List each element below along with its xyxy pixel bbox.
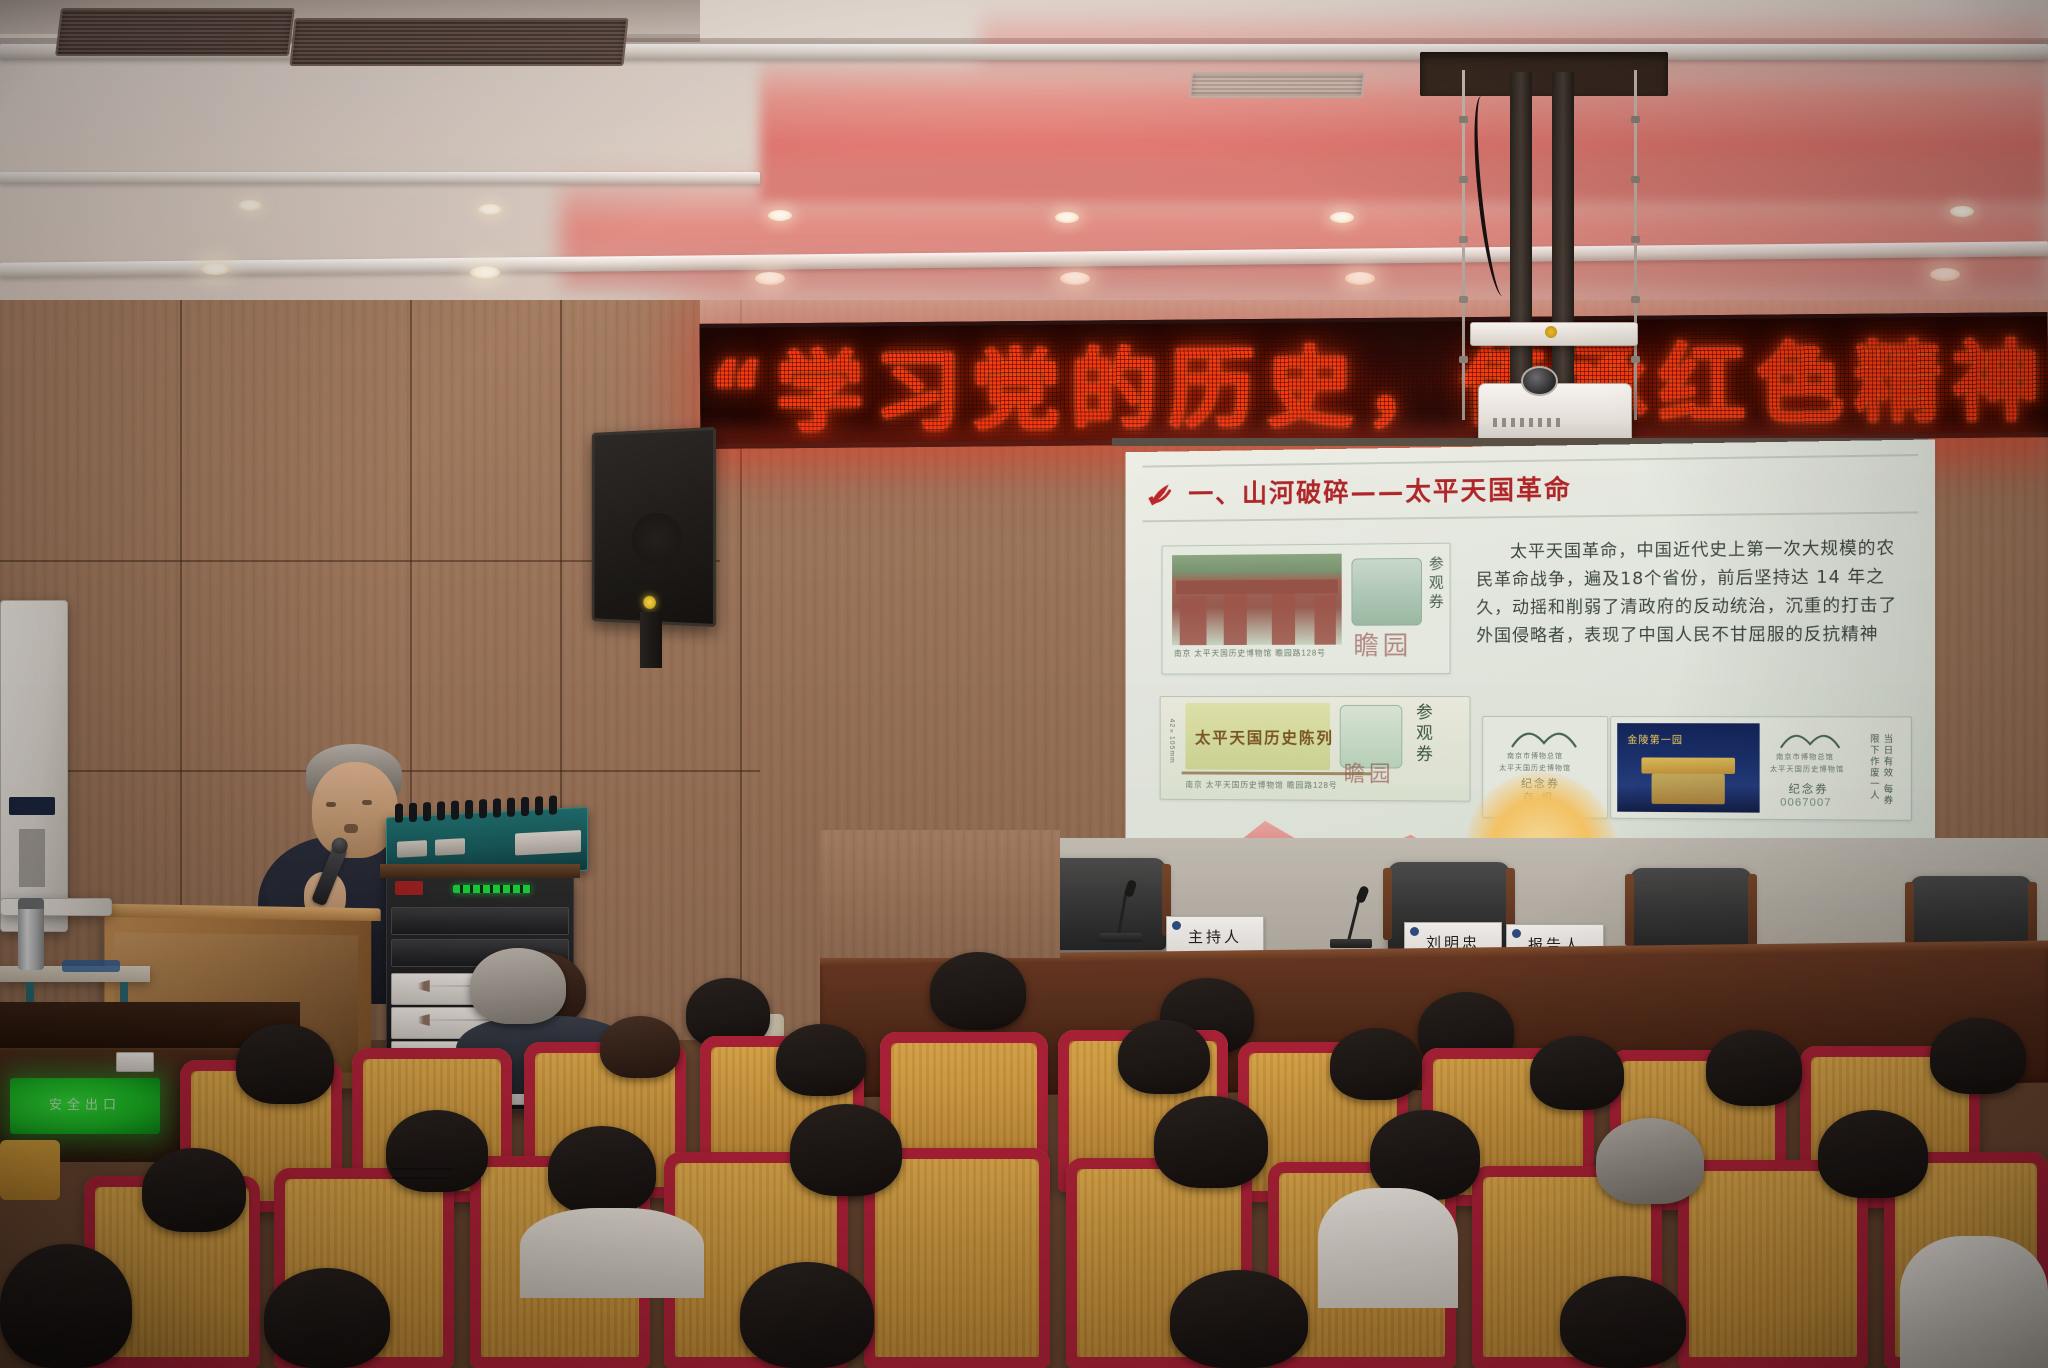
speaker-mouth xyxy=(344,824,358,833)
lift-wire-right xyxy=(1634,70,1637,420)
museum-logo-icon xyxy=(1509,727,1579,749)
slide-body-text: 太平天国革命，中国近代史上第一次大规模的农民革命战争，遍及18个省份，前后坚持达… xyxy=(1476,534,1899,650)
audience-head xyxy=(740,1262,874,1368)
downlight xyxy=(1930,268,1960,281)
ticket-serial: 0067007 xyxy=(1780,797,1831,810)
party-emblem-icon xyxy=(1146,478,1175,508)
audience-head xyxy=(1118,1020,1210,1094)
museum-subtitle: 太平天国历史博物馆 xyxy=(1770,764,1844,774)
downlight xyxy=(200,262,230,275)
speaker-driver xyxy=(632,513,683,566)
slide-title-text: 一、山河破碎——太平天国革命 xyxy=(1188,469,1572,511)
projector-lift-ceiling-hole xyxy=(1420,52,1668,96)
audience-glasses xyxy=(392,1168,454,1179)
thermos-flask xyxy=(18,898,44,970)
dispenser-tap-area xyxy=(19,829,45,887)
nameplate-logo-icon xyxy=(1512,929,1521,938)
ticket-size-note: 42×105mm xyxy=(1168,719,1175,764)
projector-lift-column xyxy=(1510,72,1532,417)
ticket-seal: 瞻园 xyxy=(1353,626,1412,663)
ceiling-red-glow-lower xyxy=(560,168,2048,288)
speaker-bracket xyxy=(640,612,662,668)
photo-caption: 金陵第一园 xyxy=(1627,731,1683,746)
stage-microphone xyxy=(1100,880,1160,942)
foreground-seat-edge xyxy=(0,1140,60,1200)
mixer-right-panel xyxy=(515,830,581,855)
rack-brand-badge xyxy=(395,881,423,895)
projector-lens xyxy=(1521,366,1558,396)
audience-head xyxy=(1370,1110,1480,1200)
audience-head-front xyxy=(470,948,566,1024)
ceiling-strip-3 xyxy=(0,172,760,184)
audience-head xyxy=(600,1016,680,1078)
audience-head xyxy=(264,1268,390,1368)
ticket-caption: 南京 太平天国历史博物馆 瞻园路128号 xyxy=(1174,648,1326,659)
slide-rule-under-title xyxy=(1143,511,1919,522)
audience-head xyxy=(0,1244,132,1368)
stage-microphone xyxy=(1330,886,1390,948)
downlight xyxy=(1060,272,1090,285)
ticket-headline: 太平天国历史陈列 xyxy=(1195,724,1334,748)
ticket-commemorative-right: 金陵第一园 南京市博物总馆 太平天国历史博物馆 纪念券 0067007 当日有效… xyxy=(1610,716,1912,821)
dispenser-shelf xyxy=(0,898,112,916)
ceiling-vent-2 xyxy=(289,18,628,66)
audience-shoulders xyxy=(520,1208,704,1298)
ticket-night-photo: 金陵第一园 xyxy=(1617,723,1759,813)
ticket-vignette xyxy=(1351,558,1422,626)
ticket-taiping-exhibit: 太平天国历史陈列 瞻园 参观券 南京 太平天国历史博物馆 瞻园路128号 42×… xyxy=(1160,696,1471,802)
downlight xyxy=(1330,212,1354,223)
museum-logo-icon xyxy=(1778,729,1842,750)
downlight xyxy=(470,266,500,279)
dispenser-control-panel xyxy=(9,797,55,815)
speaker-eye xyxy=(362,800,372,805)
audience-head xyxy=(1154,1096,1268,1188)
exit-sign: 安全出口 xyxy=(10,1078,160,1134)
mixer-panel xyxy=(397,840,427,858)
audience-head xyxy=(1930,1018,2026,1094)
audience-head xyxy=(548,1126,656,1214)
audience-head xyxy=(1560,1276,1686,1368)
nameplate-logo-icon xyxy=(1172,921,1181,930)
led-banner-text: “学习党的历史，传承红色精神”报 xyxy=(700,316,2048,444)
exit-sign-text: 安全出口 xyxy=(10,1094,160,1113)
museum-name: 南京市博物总馆 xyxy=(1507,751,1563,761)
audience-head xyxy=(1818,1110,1928,1198)
downlight xyxy=(478,204,502,215)
ceiling-vent-3 xyxy=(1189,72,1365,98)
projector-lift-column xyxy=(1552,72,1574,417)
speaker-power-led xyxy=(643,596,656,609)
speaker-eye xyxy=(326,802,336,807)
audience-head xyxy=(790,1104,902,1196)
audience-head xyxy=(1330,1028,1422,1100)
audience-shoulders xyxy=(1318,1188,1458,1308)
downlight xyxy=(238,200,262,211)
ticket-label: 纪念券 xyxy=(1788,780,1828,797)
nameplate-text: 主持人 xyxy=(1188,926,1242,947)
slide-title-row: 一、山河破碎——太平天国革命 xyxy=(1146,469,1572,511)
downlight xyxy=(1055,212,1079,223)
auditorium-photo: “学习党的历史，传承红色精神”报 xyxy=(0,0,2048,1368)
audience-head xyxy=(1596,1118,1704,1204)
ticket-gate-photo xyxy=(1172,554,1342,646)
audience-head xyxy=(1170,1270,1308,1368)
audience-head xyxy=(1530,1036,1624,1110)
audience-head xyxy=(930,952,1026,1030)
audience-head xyxy=(386,1110,488,1192)
lift-wire-left xyxy=(1462,70,1465,420)
projector-ports xyxy=(1493,418,1563,427)
mixer-panel xyxy=(435,838,465,856)
downlight xyxy=(1950,206,1974,217)
ticket-caption: 南京 太平天国历史博物馆 瞻园路128号 xyxy=(1185,779,1337,791)
audience-head xyxy=(1706,1030,1802,1106)
audience-head xyxy=(142,1148,246,1232)
lift-brand-mark xyxy=(1545,326,1557,338)
nameplate-logo-icon xyxy=(1410,927,1419,936)
ticket-vertical-note: 当日有效 每券限下作废一人 xyxy=(1867,734,1894,808)
museum-name: 南京市博物总馆 xyxy=(1776,752,1834,762)
audience-head xyxy=(776,1024,866,1096)
projector-lift-plate xyxy=(1470,322,1638,346)
stage-side-wall xyxy=(820,830,1060,958)
ceiling-vent-1 xyxy=(55,8,295,56)
ticket-admission-label: 参观券 xyxy=(1426,556,1447,660)
rack-unit xyxy=(391,907,569,935)
downlight xyxy=(768,210,792,221)
slide-rule-top xyxy=(1143,454,1919,468)
ticket-zhanyuan: 南京 太平天国历史博物馆 瞻园路128号 瞻园 参观券 xyxy=(1162,543,1451,675)
audience-head xyxy=(236,1024,334,1104)
wall-speaker xyxy=(592,427,716,627)
rack-shelf xyxy=(380,864,580,878)
ticket-admission-label: 参观券 xyxy=(1410,703,1435,789)
blue-item-on-table xyxy=(62,960,120,972)
downlight xyxy=(755,272,785,285)
water-dispenser xyxy=(0,600,68,932)
small-box-on-desk xyxy=(116,1052,154,1072)
downlight xyxy=(1345,272,1375,285)
audience-shoulders xyxy=(1900,1236,2048,1368)
rack-level-meter xyxy=(453,885,531,893)
